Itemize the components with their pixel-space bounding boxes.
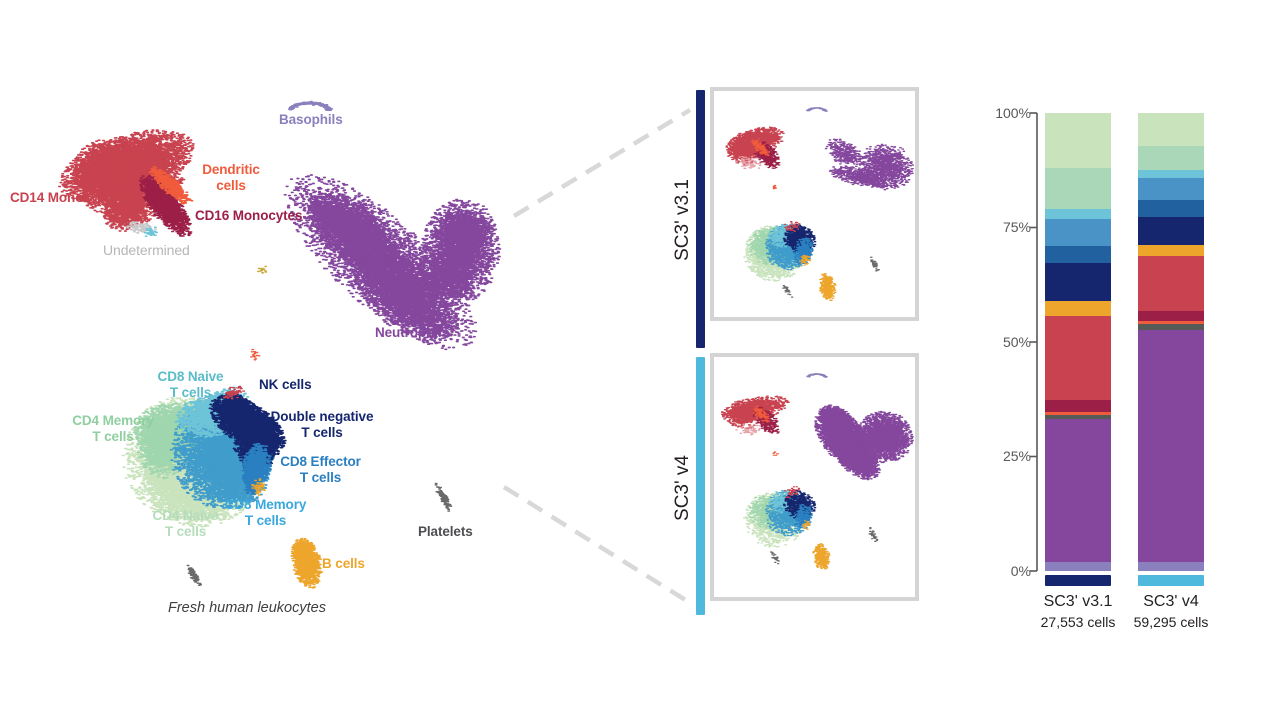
umap-cluster-points — [773, 452, 779, 455]
y-tick-label-0: 0% — [975, 563, 1031, 579]
cluster-label-line: CD4 Memory — [63, 413, 163, 429]
y-tick-label-100: 100% — [975, 105, 1031, 121]
cluster-label-line: CD8 Memory — [218, 497, 313, 513]
cluster-label-line: CD14 Monocytes — [10, 190, 117, 205]
bar-segment[interactable] — [1045, 400, 1111, 412]
main-umap-panel: Basophils CD14 Monocytes Dendritic cells… — [0, 0, 530, 660]
mini-umap-sc3-v31-scatter — [714, 91, 915, 317]
bar-stack-sc3-v31[interactable] — [1045, 113, 1111, 571]
cluster-label-cd16-monocytes: CD16 Monocytes — [195, 208, 302, 224]
y-tick-label-75: 75% — [975, 219, 1031, 235]
split-umap-panel: SC3' v3.1 SC3' v4 — [655, 85, 935, 620]
cluster-label-line: Double negative — [267, 409, 377, 425]
bar-segment[interactable] — [1138, 245, 1204, 256]
cluster-label-cd4-naive-t-cells: CD4 Naïve T cells — [143, 508, 228, 539]
bar-segment[interactable] — [1138, 256, 1204, 311]
bar-segment[interactable] — [1138, 562, 1204, 571]
bar-segment[interactable] — [1138, 113, 1204, 146]
bar-segment[interactable] — [1045, 246, 1111, 263]
bar-category-label-sc3-v31: SC3' v3.1 — [1031, 593, 1125, 611]
umap-cluster-points — [807, 108, 827, 112]
cluster-label-b-cells: B cells — [322, 556, 365, 572]
main-umap-scatter — [0, 0, 530, 660]
cluster-label-line: T cells — [148, 385, 233, 401]
cluster-label-line: Basophils — [279, 112, 343, 127]
bar-underline-sc3-v4 — [1138, 575, 1204, 586]
cluster-label-line: B cells — [322, 556, 365, 571]
bar-segment[interactable] — [1045, 301, 1111, 316]
bar-cell-count-sc3-v4: 59,295 cells — [1122, 614, 1220, 630]
umap-cluster-points — [771, 552, 780, 564]
cluster-label-basophils: Basophils — [279, 112, 343, 128]
bar-stack-sc3-v4[interactable] — [1138, 113, 1204, 571]
bar-segment[interactable] — [1045, 263, 1111, 301]
y-tick-label-25: 25% — [975, 448, 1031, 464]
bar-segment[interactable] — [1045, 113, 1111, 168]
umap-cluster-points — [435, 484, 451, 512]
figure-root: Basophils CD14 Monocytes Dendritic cells… — [0, 0, 1279, 719]
bar-segment[interactable] — [1138, 330, 1204, 562]
cluster-label-line: CD16 Monocytes — [195, 208, 302, 223]
cluster-label-line: cells — [186, 178, 276, 194]
cluster-label-cd14-monocytes: CD14 Monocytes — [10, 190, 117, 206]
cluster-label-nk-cells: NK cells — [259, 377, 311, 393]
cluster-label-platelets: Platelets — [418, 524, 473, 540]
row-label-sc3-v4: SC3' v4 — [672, 438, 694, 538]
bar-cell-count-sc3-v31: 27,553 cells — [1029, 614, 1127, 630]
bar-category-label-sc3-v4: SC3' v4 — [1124, 593, 1218, 611]
bar-segment[interactable] — [1045, 562, 1111, 571]
cluster-label-line: Undetermined — [103, 242, 190, 258]
umap-cluster-points — [871, 257, 880, 271]
cluster-label-line: CD8 Effector — [273, 454, 368, 470]
umap-cluster-points — [187, 566, 201, 586]
bar-chart-axis — [975, 85, 1275, 645]
umap-cluster-points — [820, 274, 836, 301]
bar-segment[interactable] — [1138, 178, 1204, 200]
cluster-label-cd8-naive-t-cells: CD8 Naive T cells — [148, 369, 233, 400]
bar-segment[interactable] — [1138, 200, 1204, 217]
cluster-label-line: T cells — [63, 429, 163, 445]
umap-cluster-points — [856, 412, 913, 463]
bar-segment[interactable] — [1138, 311, 1204, 321]
cluster-label-line: T cells — [273, 470, 368, 486]
cluster-label-line: NK cells — [259, 377, 311, 392]
bar-segment[interactable] — [1138, 217, 1204, 245]
bar-segment[interactable] — [1045, 419, 1111, 562]
main-umap-caption: Fresh human leukocytes — [168, 600, 326, 616]
umap-cluster-points — [869, 528, 878, 542]
cluster-label-double-negative-t-cells: Double negative T cells — [267, 409, 377, 440]
cluster-label-line: T cells — [267, 425, 377, 441]
mini-umap-sc3-v4-scatter — [714, 357, 915, 597]
cluster-label-dendritic-cells: Dendritic cells — [186, 162, 276, 193]
composition-bar-chart: 100% 75% 50% 25% 0% SC3' v3.1 27,553 cel… — [975, 85, 1275, 645]
cluster-label-line: Platelets — [418, 524, 473, 539]
y-tick-label-50: 50% — [975, 334, 1031, 350]
bar-underline-sc3-v31 — [1045, 575, 1111, 586]
cluster-label-undetermined: Undetermined — [103, 243, 190, 259]
umap-cluster-points — [258, 266, 267, 273]
cluster-label-neutrophils: Neutrophils — [375, 325, 449, 341]
umap-cluster-points — [436, 213, 493, 254]
mini-umap-sc3-v31 — [710, 87, 919, 321]
bar-segment[interactable] — [1045, 209, 1111, 219]
cluster-label-line: T cells — [143, 524, 228, 540]
bar-segment[interactable] — [1045, 316, 1111, 400]
bar-segment[interactable] — [1045, 168, 1111, 209]
cluster-label-cd8-memory-t-cells: CD8 Memory T cells — [218, 497, 313, 528]
row-label-sc3-v31: SC3' v3.1 — [672, 170, 694, 270]
umap-cluster-points — [736, 424, 761, 435]
bar-segment[interactable] — [1138, 170, 1204, 178]
umap-cluster-points — [773, 186, 776, 189]
cluster-label-line: CD8 Naive — [148, 369, 233, 385]
mini-umap-sc3-v4 — [710, 353, 919, 601]
cluster-label-line: Neutrophils — [375, 325, 449, 340]
cluster-label-line: Dendritic — [186, 162, 276, 178]
umap-cluster-points — [825, 139, 863, 167]
umap-cluster-points — [813, 544, 830, 569]
bar-segment[interactable] — [1045, 219, 1111, 246]
row-accent-bar-sc3-v4 — [696, 357, 705, 615]
cluster-label-line: T cells — [218, 513, 313, 529]
umap-cluster-points — [251, 350, 260, 360]
bar-segment[interactable] — [1138, 146, 1204, 170]
cluster-label-line: CD4 Naïve — [143, 508, 228, 524]
cluster-label-cd4-memory-t-cells: CD4 Memory T cells — [63, 413, 163, 444]
umap-cluster-points — [783, 286, 793, 298]
umap-cluster-points — [807, 374, 827, 378]
cluster-label-cd8-effector-t-cells: CD8 Effector T cells — [273, 454, 368, 485]
row-accent-bar-sc3-v31 — [696, 90, 705, 348]
umap-cluster-points — [289, 102, 333, 111]
